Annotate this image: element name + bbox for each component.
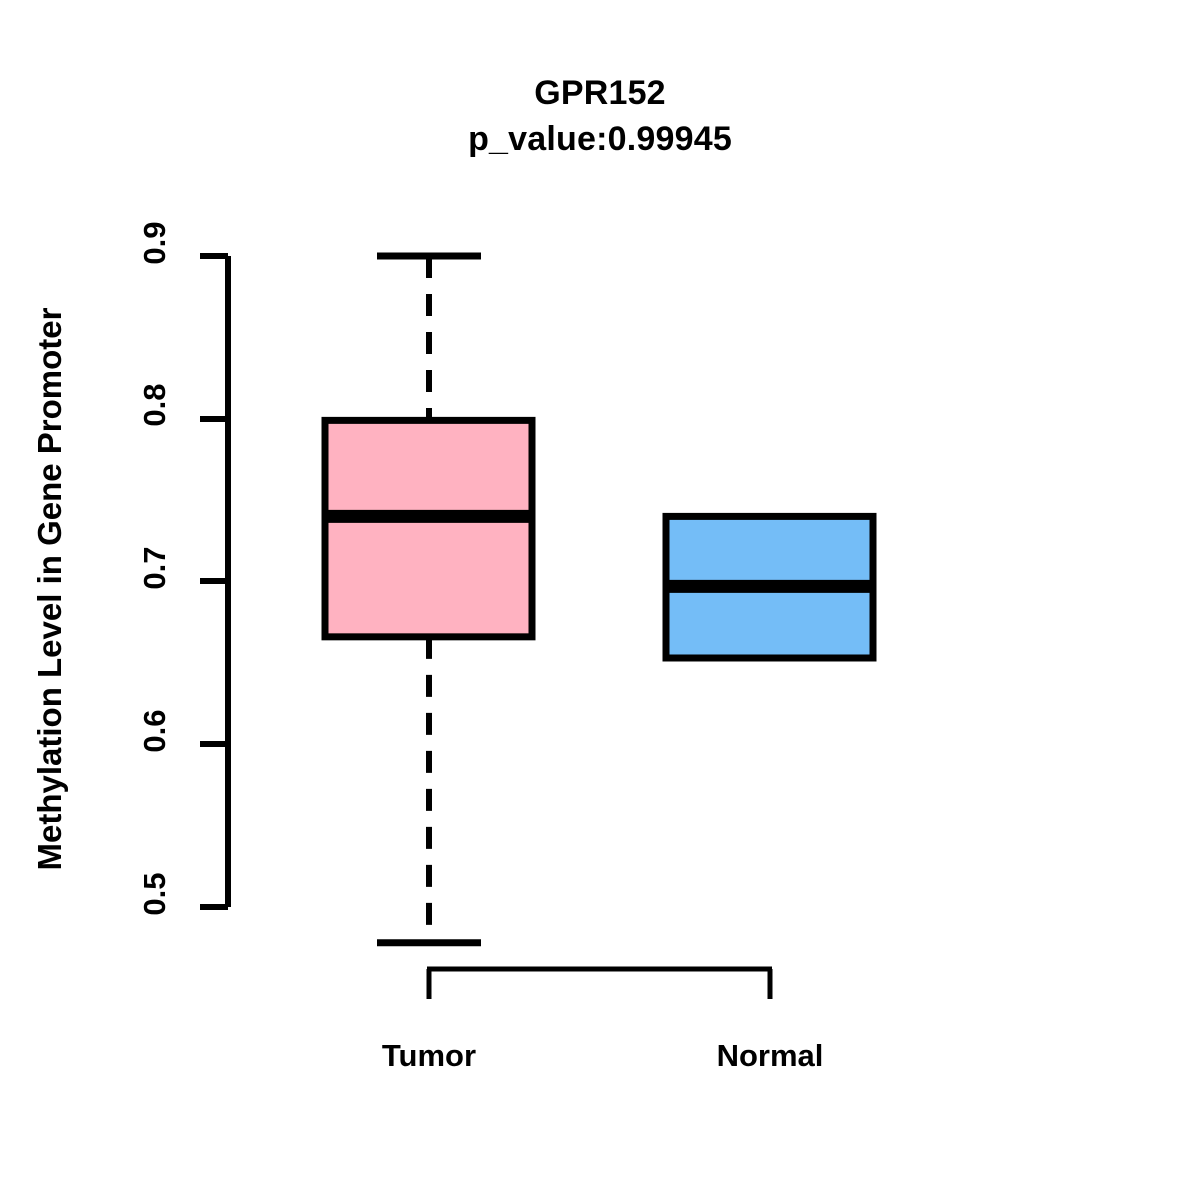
y-axis: [200, 256, 228, 907]
boxplot-figure: GPR152 p_value:0.99945 Methylation Level…: [0, 0, 1200, 1200]
tumor-iqr-box: [325, 420, 532, 636]
box-tumor: [322, 256, 535, 943]
box-normal: [663, 516, 876, 658]
plot-canvas: [0, 0, 1200, 1200]
x-axis: [427, 969, 772, 999]
